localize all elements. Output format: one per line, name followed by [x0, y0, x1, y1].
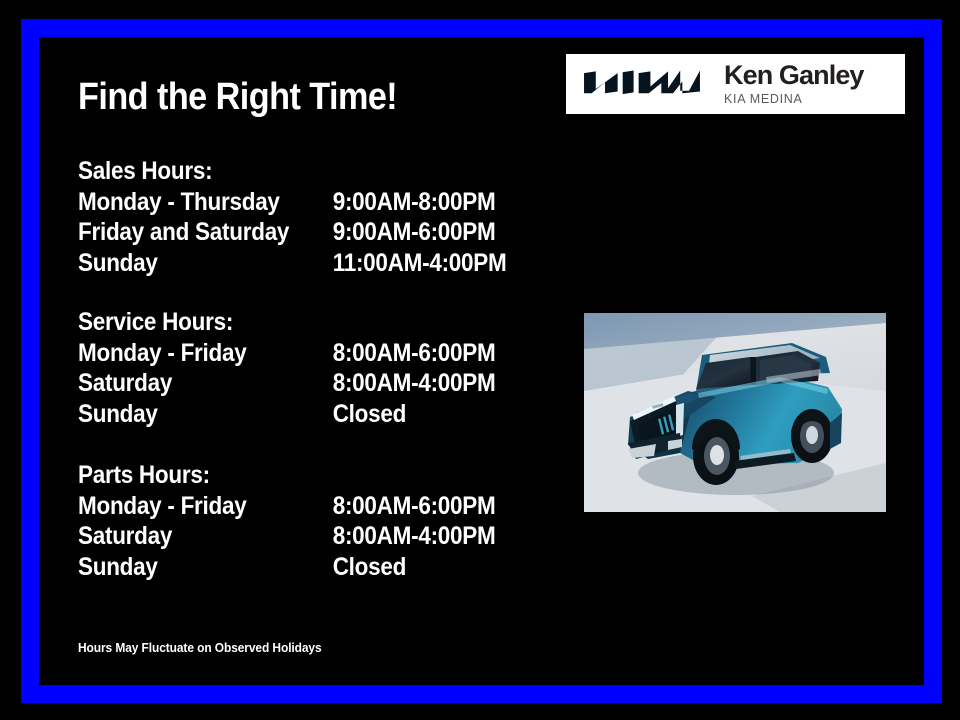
hours-row-day: Sunday [78, 248, 158, 279]
dealer-logo-banner: Ken Ganley KIA MEDINA [566, 54, 905, 114]
hours-row: Saturday 8:00AM-4:00PM [78, 368, 501, 399]
service-hours-heading: Service Hours: [78, 307, 501, 338]
slide-canvas: Find the Right Time! Sales Hours: Monday… [0, 0, 960, 720]
page-title: Find the Right Time! [78, 78, 397, 118]
hours-row-time: 9:00AM-6:00PM [333, 217, 496, 248]
service-hours-block: Service Hours: Monday - Friday 8:00AM-6:… [78, 307, 548, 429]
dealer-name-group: Ken Ganley KIA MEDINA [724, 62, 864, 106]
hours-row-day: Monday - Thursday [78, 187, 280, 218]
hours-row-time: 8:00AM-6:00PM [333, 491, 496, 522]
hours-row-day: Saturday [78, 368, 172, 399]
hours-row-time: 8:00AM-6:00PM [333, 338, 496, 369]
hours-row: Monday - Friday 8:00AM-6:00PM [78, 338, 501, 369]
hours-row: Sunday Closed [78, 552, 501, 583]
hours-row-time: 11:00AM-4:00PM [333, 248, 507, 279]
hours-row: Sunday 11:00AM-4:00PM [78, 248, 501, 279]
hours-row-time: 9:00AM-8:00PM [333, 187, 496, 218]
slide-content: Find the Right Time! Sales Hours: Monday… [0, 0, 960, 720]
hours-row-day: Friday and Saturday [78, 217, 289, 248]
hours-row-time: 8:00AM-4:00PM [333, 521, 496, 552]
hours-row: Sunday Closed [78, 399, 501, 430]
parts-hours-heading: Parts Hours: [78, 460, 501, 491]
hours-row: Monday - Friday 8:00AM-6:00PM [78, 491, 501, 522]
hours-row-time: 8:00AM-4:00PM [333, 368, 496, 399]
hours-row-day: Monday - Friday [78, 338, 246, 369]
kia-ev9-suv-photo [584, 313, 886, 512]
hours-row-time: Closed [333, 552, 406, 583]
dealer-subtitle: KIA MEDINA [724, 93, 864, 106]
hours-row-day: Sunday [78, 552, 158, 583]
hours-row-day: Monday - Friday [78, 491, 246, 522]
hours-row: Monday - Thursday 9:00AM-8:00PM [78, 187, 501, 218]
sales-hours-heading: Sales Hours: [78, 156, 501, 187]
hours-row: Saturday 8:00AM-4:00PM [78, 521, 501, 552]
dealer-name: Ken Ganley [724, 62, 864, 89]
hours-row-day: Saturday [78, 521, 172, 552]
sales-hours-block: Sales Hours: Monday - Thursday 9:00AM-8:… [78, 156, 548, 278]
hours-row-time: Closed [333, 399, 406, 430]
parts-hours-block: Parts Hours: Monday - Friday 8:00AM-6:00… [78, 460, 548, 582]
kia-logo-icon [579, 67, 705, 101]
holiday-disclaimer-note: Hours May Fluctuate on Observed Holidays [78, 640, 322, 655]
hours-row-day: Sunday [78, 399, 158, 430]
hours-row: Friday and Saturday 9:00AM-6:00PM [78, 217, 501, 248]
